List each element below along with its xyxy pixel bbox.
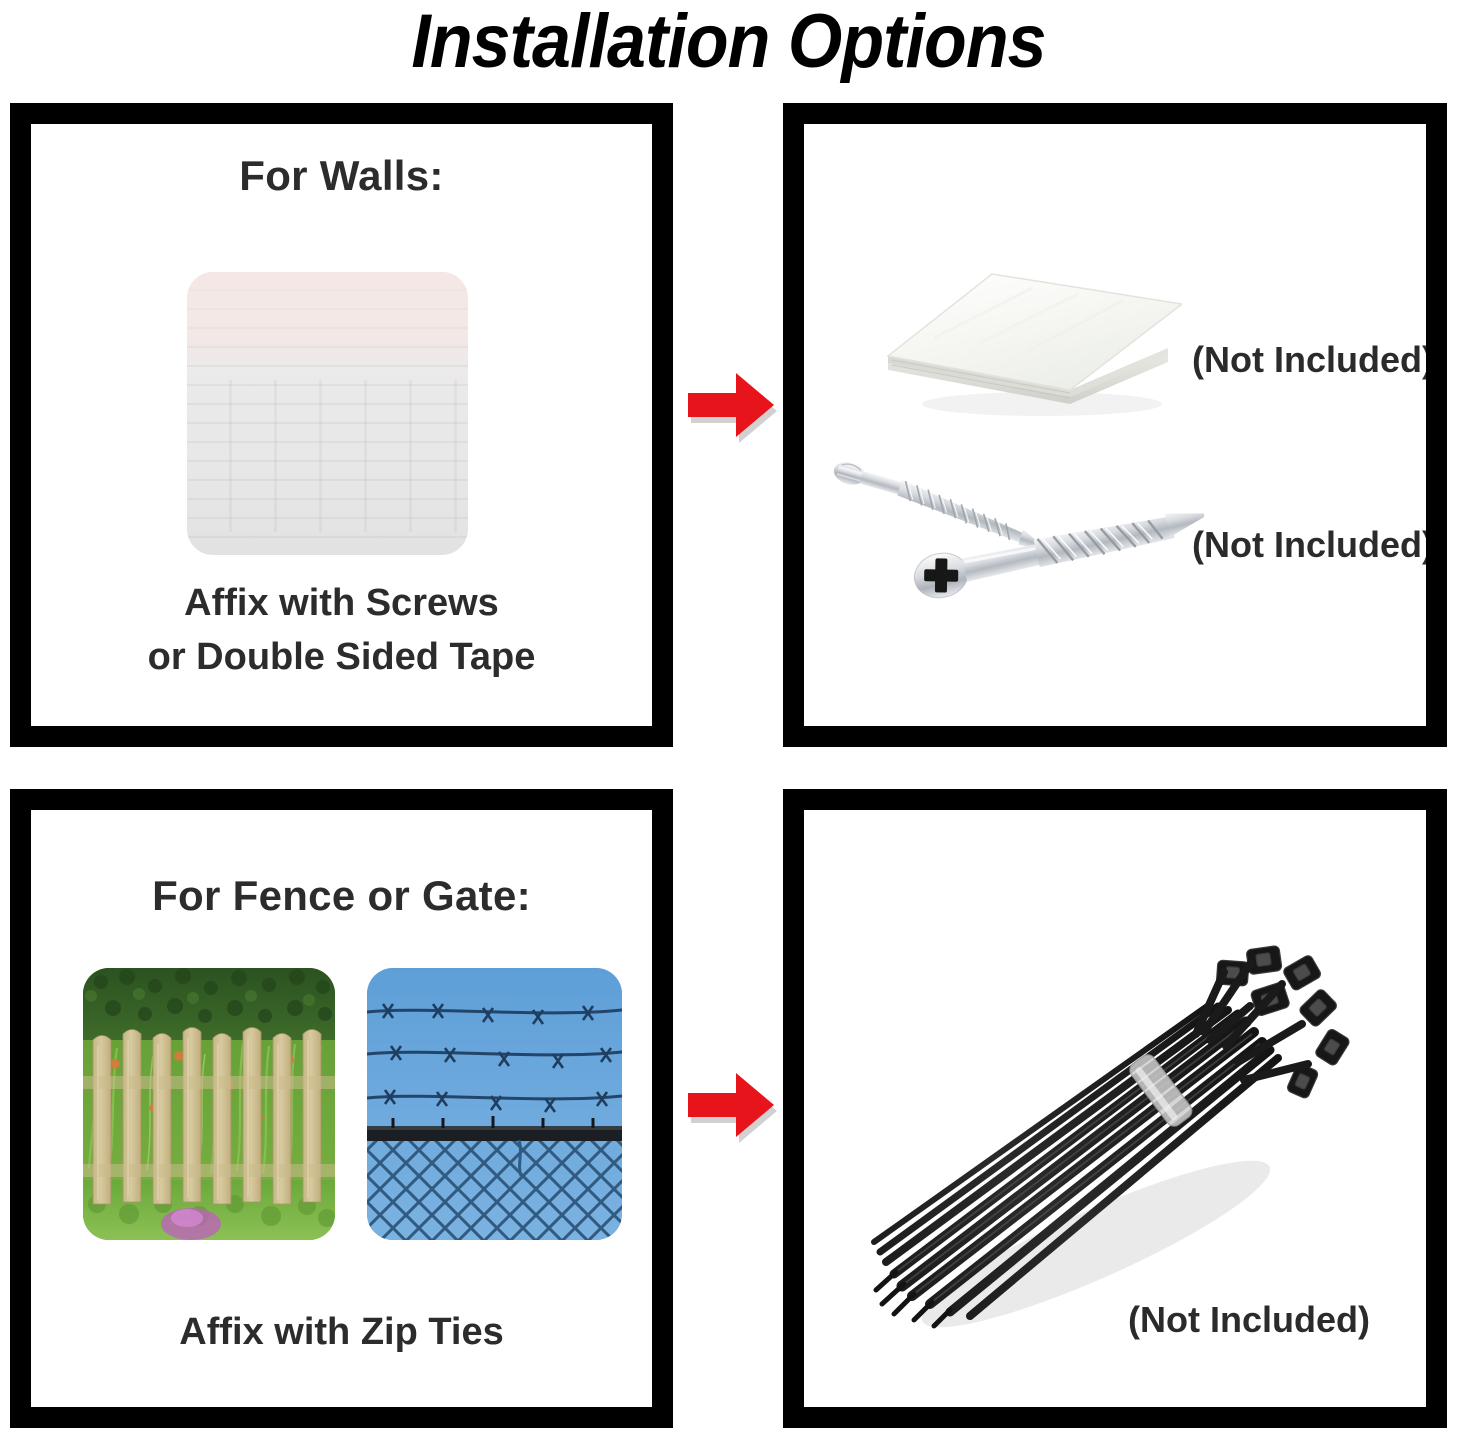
barbed-wire-chain-link-fence-thumbnail [367,968,622,1240]
panel-for-fence-heading: For Fence or Gate: [31,872,652,920]
panel-for-walls-heading: For Walls: [31,152,652,200]
wood-screws-image [832,444,1204,660]
black-zip-ties-bundle-image [846,914,1366,1334]
red-arrow-right-icon [688,1073,780,1149]
panel-wall-hardware-content: (Not Included) [804,124,1426,726]
panel-for-walls-content: For Walls: Affix with Screws or Double S… [31,124,652,726]
panel-for-walls-caption: Affix with Screws or Double Sided Tape [31,576,652,684]
brick-joints-texture [187,380,468,533]
screws-not-included-label: (Not Included) [1192,524,1426,566]
wooden-picket-fence-thumbnail [83,968,335,1240]
caption-line-2: or Double Sided Tape [31,630,652,684]
red-arrow-right-icon [688,373,780,449]
panel-zip-ties-content: (Not Included) [804,810,1426,1407]
caption-line-1: Affix with Screws [31,576,652,630]
panel-for-walls: For Walls: Affix with Screws or Double S… [10,103,673,747]
panel-for-fence-caption: Affix with Zip Ties [31,1305,652,1359]
tape-not-included-label: (Not Included) [1192,339,1426,381]
page-title: Installation Options [58,0,1398,88]
panel-wall-hardware: (Not Included) [783,103,1447,747]
panel-for-fence-or-gate-content: For Fence or Gate: [31,810,652,1407]
zip-ties-not-included-label: (Not Included) [1128,1299,1370,1341]
panel-zip-ties: (Not Included) [783,789,1447,1428]
brick-top-highlight [187,272,468,374]
double-sided-tape-stack-image [882,252,1182,420]
panel-for-fence-or-gate: For Fence or Gate: [10,789,673,1428]
white-brick-wall-thumbnail [187,272,468,555]
